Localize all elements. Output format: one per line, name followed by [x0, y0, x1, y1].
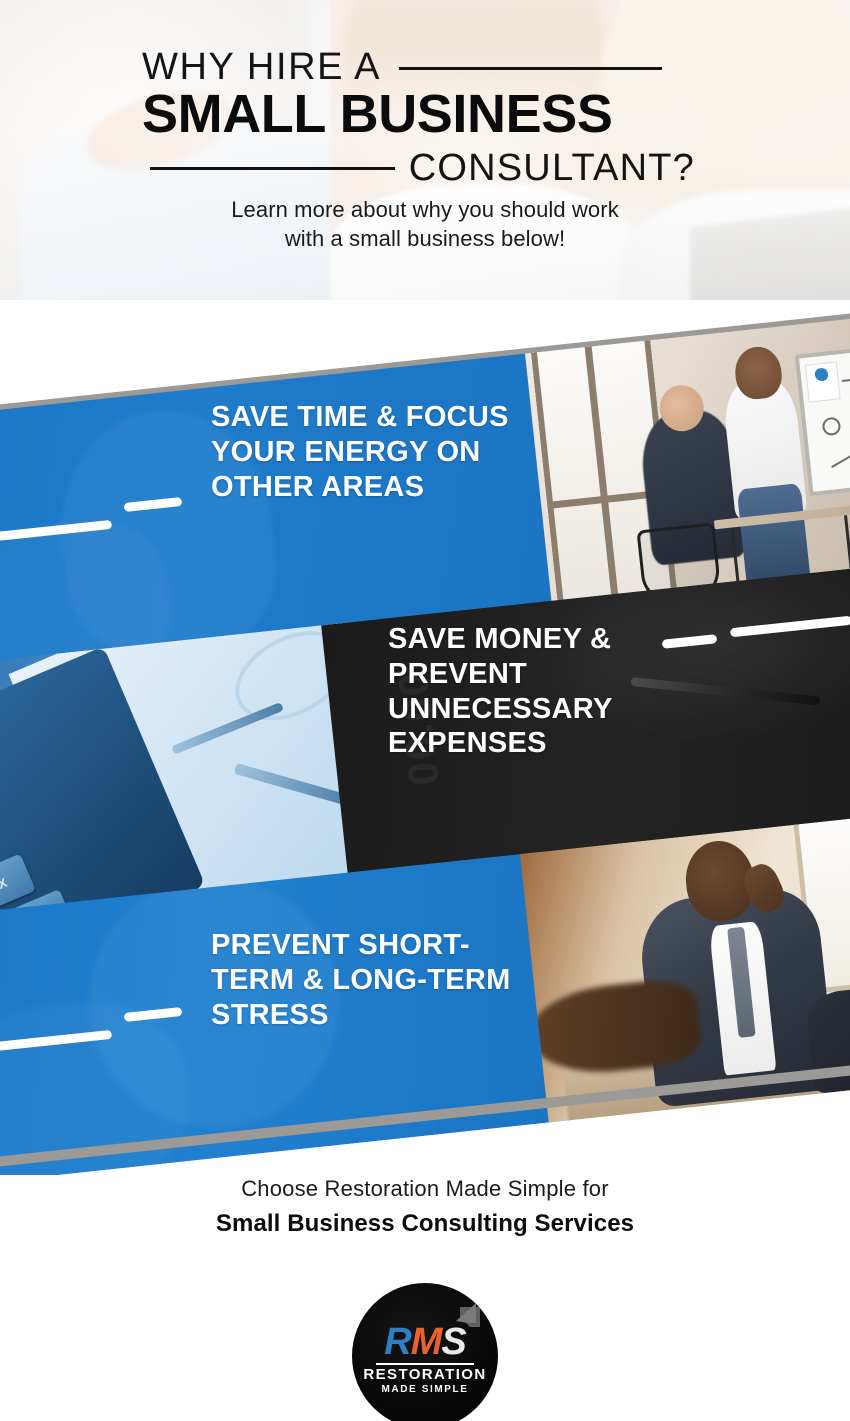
headline-row-1: WHY HIRE A — [142, 45, 662, 89]
logo-tagline-bottom: MADE SIMPLE — [352, 1384, 498, 1395]
logo-wordmark: RMS — [352, 1323, 498, 1361]
headline-line-2: SMALL BUSINESS — [142, 86, 762, 143]
hero-subheading-line-1: Learn more about why you should work — [0, 196, 850, 225]
band-3-headline: PREVENT SHORT-TERM & LONG-TERM STRESS — [211, 928, 511, 1032]
logo-letter-r: R — [384, 1321, 410, 1363]
band-2-headline: SAVE MONEY & PREVENT UNNECESSARY EXPENSE… — [388, 622, 688, 761]
footer-section: Choose Restoration Made Simple for Small… — [0, 1175, 850, 1421]
headline-line-3: CONSULTANT? — [409, 149, 695, 187]
logo-circle: RMS RESTORATION MADE SIMPLE — [352, 1283, 498, 1421]
logo-divider — [376, 1363, 474, 1365]
band-1-headline: SAVE TIME & FOCUS YOUR ENERGY ON OTHER A… — [211, 400, 511, 504]
logo-tagline-top: RESTORATION — [352, 1366, 498, 1383]
footer-line-1: Choose Restoration Made Simple for — [0, 1175, 850, 1204]
headline-rule-bottom — [150, 167, 395, 170]
hero-subheading: Learn more about why you should work wit… — [0, 196, 850, 253]
footer-line-2: Small Business Consulting Services — [0, 1208, 850, 1239]
headline-rule-top — [399, 67, 662, 70]
rms-logo: RMS RESTORATION MADE SIMPLE — [352, 1283, 498, 1421]
logo-letter-s: S — [441, 1321, 465, 1363]
headline-row-3: CONSULTANT? — [150, 146, 695, 190]
headline-line-1: WHY HIRE A — [142, 48, 381, 86]
infographic-poster: WHY HIRE A SMALL BUSINESS CONSULTANT? Le… — [0, 0, 850, 1421]
hero-subheading-line-2: with a small business below! — [0, 225, 850, 254]
logo-letter-m: M — [411, 1321, 442, 1363]
